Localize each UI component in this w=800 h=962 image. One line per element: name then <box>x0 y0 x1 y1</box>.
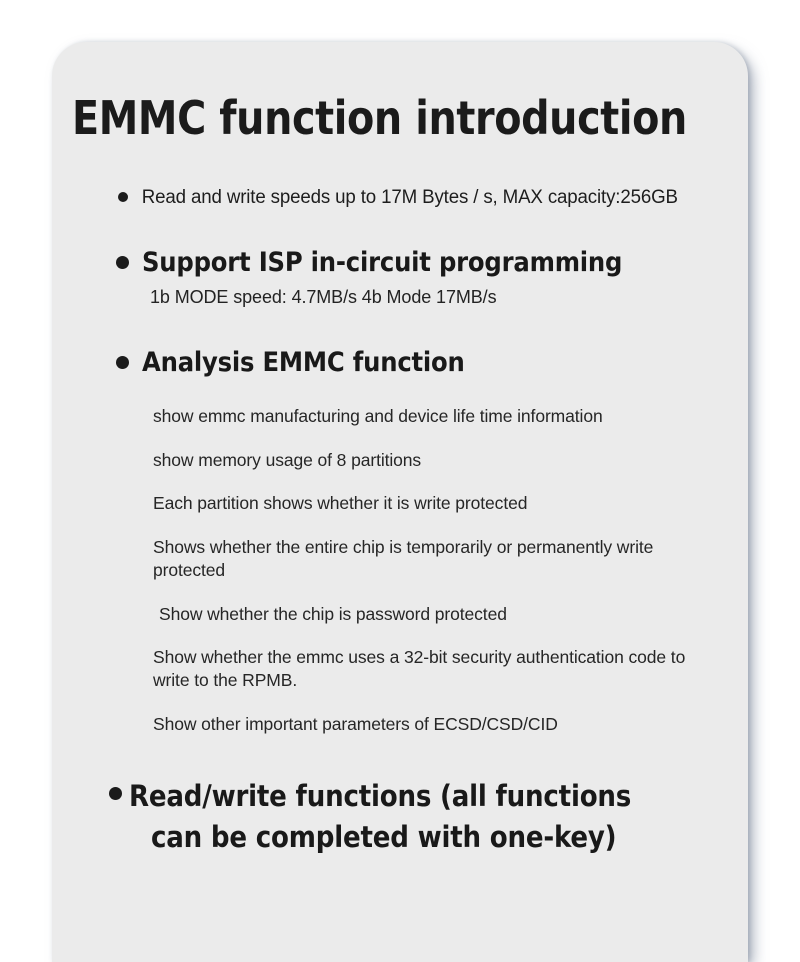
list-item: Each partition shows whether it is write… <box>153 492 714 515</box>
analysis-detail-list: show emmc manufacturing and device life … <box>72 405 722 736</box>
readwrite-heading-text: Read/write functions (all functions can … <box>122 776 722 858</box>
list-item: show emmc manufacturing and device life … <box>153 405 714 428</box>
analysis-heading-row: Analysis EMMC function <box>72 347 722 379</box>
feature-card: EMMC function introduction Read and writ… <box>52 42 748 962</box>
lead-bullet-text: Read and write speeds up to 17M Bytes / … <box>128 186 713 210</box>
list-item: Shows whether the entire chip is tempora… <box>153 536 714 582</box>
lead-bullet-row: Read and write speeds up to 17M Bytes / … <box>72 186 722 210</box>
list-item: show memory usage of 8 partitions <box>153 449 714 472</box>
card-content: EMMC function introduction Read and writ… <box>52 42 748 962</box>
isp-heading-row: Support ISP in-circuit programming <box>72 247 722 279</box>
list-item: Show whether the emmc uses a 32-bit secu… <box>153 646 714 692</box>
bullet-dot-icon <box>116 256 129 269</box>
readwrite-heading-row: Read/write functions (all functions can … <box>72 776 722 858</box>
isp-heading-text: Support ISP in-circuit programming <box>129 247 722 279</box>
page-root: EMMC function introduction Read and writ… <box>0 0 800 936</box>
readwrite-heading-line2: can be completed with one-key) <box>129 817 722 858</box>
list-item: Show other important parameters of ECSD/… <box>153 713 714 736</box>
readwrite-heading-line1: Read/write functions (all functions <box>129 779 631 813</box>
bullet-dot-icon <box>109 787 122 800</box>
analysis-heading-text: Analysis EMMC function <box>129 347 722 379</box>
page-title: EMMC function introduction <box>72 42 696 141</box>
bullet-dot-icon <box>116 356 129 369</box>
bullet-dot-icon <box>118 192 128 202</box>
list-item: Show whether the chip is password protec… <box>153 603 714 626</box>
isp-caption: 1b MODE speed: 4.7MB/s 4b Mode 17MB/s <box>72 286 722 309</box>
